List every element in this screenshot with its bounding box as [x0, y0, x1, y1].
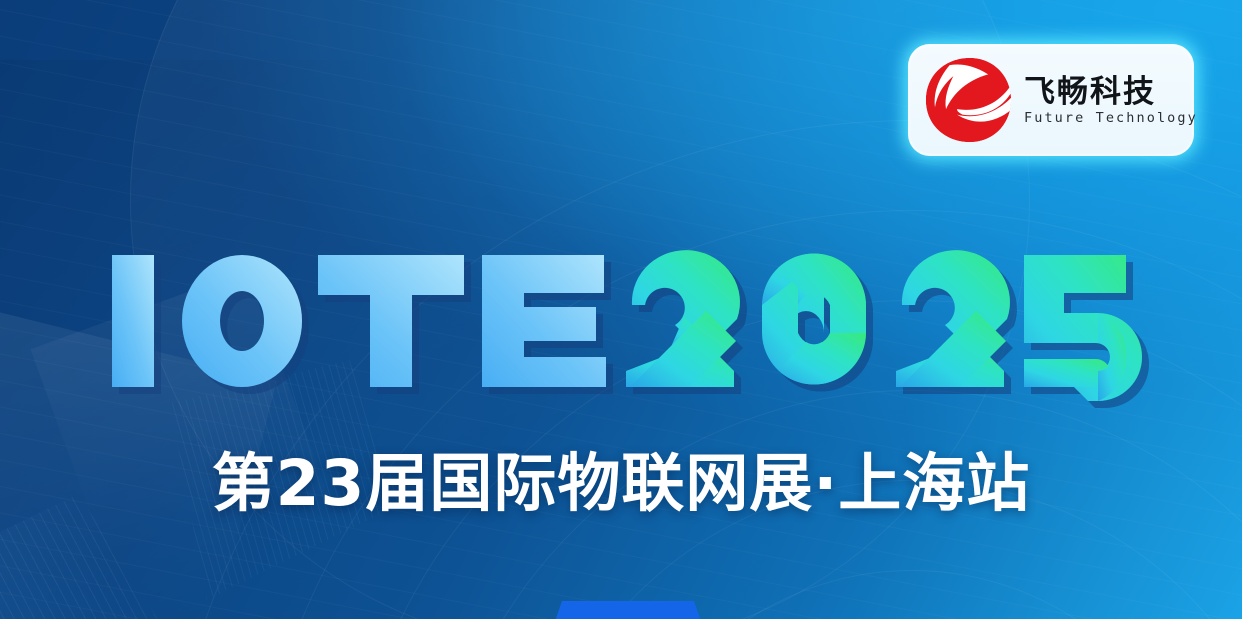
logo-english-name: Future Technology [1024, 110, 1198, 126]
bottom-center-accent-shape [553, 601, 703, 619]
headline-word-2025 [626, 250, 1142, 401]
iote-2025-banner: 第23届国际物联网展·上海站 飞畅科技 Future Technology [0, 0, 1242, 619]
subtitle-text: 第23届国际物联网展·上海站 [0, 452, 1242, 515]
feichang-logo-icon [922, 56, 1014, 144]
headline-iote-2025 [112, 245, 1092, 395]
logo-text-group: 飞畅科技 Future Technology [1024, 74, 1198, 127]
sponsor-logo-badge[interactable]: 飞畅科技 Future Technology [908, 44, 1194, 156]
logo-chinese-name: 飞畅科技 [1024, 76, 1198, 109]
headline-word-iote [112, 255, 606, 387]
